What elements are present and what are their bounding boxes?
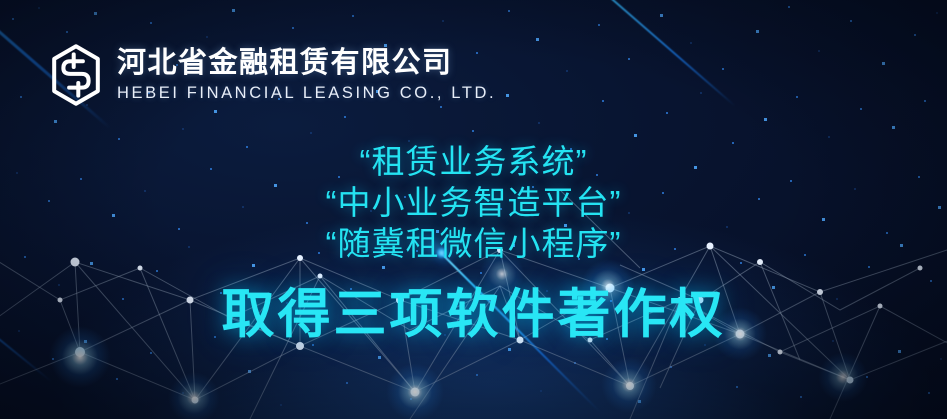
product-quote-list: “租赁业务系统” “中小业务智造平台” “随冀租微信小程序” xyxy=(0,141,947,264)
product-quote-line-1: “租赁业务系统” xyxy=(0,141,947,182)
company-logo-block: 河北省金融租赁有限公司 HEBEI FINANCIAL LEASING CO.,… xyxy=(47,44,496,106)
hexagon-logo-icon xyxy=(47,44,105,106)
product-quote-line-2: “中小业务智造平台” xyxy=(0,182,947,223)
headline-title: 取得三项软件著作权 xyxy=(0,287,947,343)
product-quote-line-3: “随冀租微信小程序” xyxy=(0,223,947,264)
company-name-en: HEBEI FINANCIAL LEASING CO., LTD. xyxy=(117,85,496,102)
company-name-text: 河北省金融租赁有限公司 HEBEI FINANCIAL LEASING CO.,… xyxy=(117,49,496,102)
company-name-cn: 河北省金融租赁有限公司 xyxy=(117,49,496,78)
promo-banner: 河北省金融租赁有限公司 HEBEI FINANCIAL LEASING CO.,… xyxy=(0,0,947,419)
